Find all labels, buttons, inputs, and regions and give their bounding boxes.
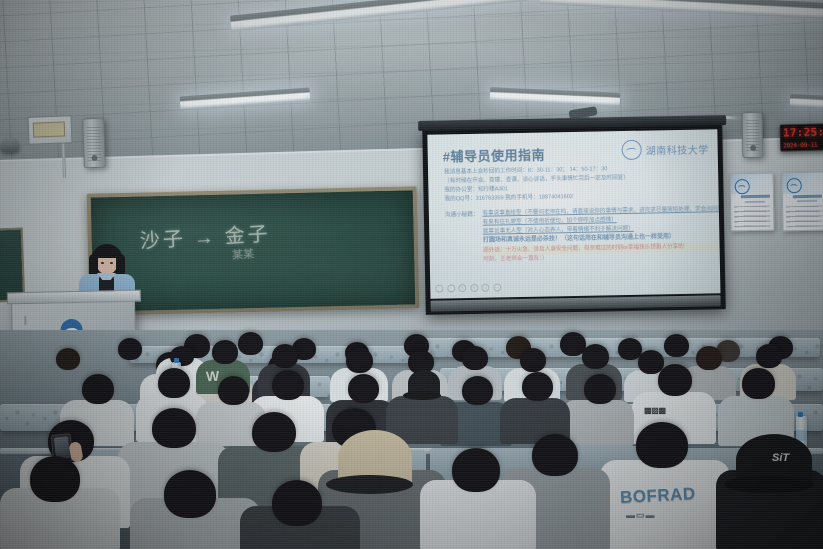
highlighter-icon[interactable] [447,284,455,292]
clock-date: 2024-09-11 [783,142,817,150]
audience-head [82,374,114,404]
audience-head [636,422,688,468]
bottle-cap [798,412,803,417]
audience-head [346,348,373,373]
bottle-cap [174,358,179,363]
audience-head [520,348,546,372]
audience-head [742,368,775,399]
ceiling-dome-speaker [0,138,18,153]
audience-head [152,408,196,448]
audience-head [272,344,298,368]
powerpoint-slide: #辅导员使用指南 湖南科技大学 我消息基本上会秒回的工作时间：8：30-11：3… [427,129,720,299]
audience-head [522,372,553,401]
audience-head [272,370,304,400]
certificate-body-lines [786,206,822,227]
lecture-hall-photo: 17:25:2 2024-09-11 沙子 → 金子 某某 #辅导员使用指南 [0,0,823,549]
audience-head [348,374,379,403]
close-icon[interactable]: ✕ [470,284,478,292]
lectern-top [7,290,141,305]
audience-head [664,334,689,357]
audience-head [238,332,263,355]
blackboard-signature: 某某 [232,245,255,263]
cap-brim [403,391,441,400]
led-wall-clock: 17:25:2 2024-09-11 [780,123,823,151]
audience-head [462,376,493,405]
wall-speaker-right [742,112,764,158]
audience-head [118,338,142,360]
certificate-title-bar [741,195,770,198]
cap-brim [724,476,814,494]
slide-tips-list: 有事说事直给型（不要问老师在吗，请直接说你的事情与需求，讲完求尽量简短处理，学会… [482,205,720,265]
slides-icon[interactable]: ▭ [481,284,489,292]
audience-head [218,376,249,405]
audience-head [56,348,80,370]
slide-tips-section: 沟通小秘籍： 有事说事直给型（不要问老师在吗，请直接说你的事情与需求，讲完求尽量… [445,205,710,266]
baseball-cap-beige [338,430,412,486]
audience-head [532,434,578,476]
shirt-text-bofrad: BOFRAD [620,484,697,508]
presenter-eye-left [101,262,104,264]
cap-text-sit: SiT [772,452,789,464]
framed-certificate-right [781,172,823,232]
certificate-subtitle-bar [797,200,816,202]
pen-icon[interactable] [435,285,443,293]
audience-area: W ▦▩ [0,330,823,549]
slide-title: #辅导员使用指南 [443,145,546,166]
audience-head [582,344,609,369]
shirt-subgraphic: ▬▭▬ [626,510,656,521]
audience-head [212,340,238,364]
audience-head [658,364,692,396]
audience-head [164,470,216,518]
audience-head [462,346,488,370]
slide-tips-label: 沟通小秘籍： [445,209,480,265]
speaker-driver [750,145,756,151]
wall-control-box[interactable] [28,115,73,145]
pointer-icon[interactable]: ✎ [458,284,466,292]
audience-head [30,456,80,502]
audience-head [252,412,296,452]
audience-head [272,480,322,526]
projection-screen-assembly: #辅导员使用指南 湖南科技大学 我消息基本上会秒回的工作时间：8：30-11：3… [422,123,726,315]
presenter-toolbar[interactable]: ✎ ✕ ▭ ⋯ [435,283,501,292]
certificate-title-bar [793,194,822,197]
clock-time: 17:25:2 [783,125,823,139]
certificate-body-lines [734,206,770,227]
shirt-text-w: W [206,368,221,385]
university-logo-text: 湖南科技大学 [646,141,709,157]
projection-screen: #辅导员使用指南 湖南科技大学 我消息基本上会秒回的工作时间：8：30-11：3… [427,129,720,299]
slide-body: 我消息基本上会秒回的工作时间：8：30-11：30； 14：50-17：30 （… [444,163,710,265]
lectern-scuff [24,316,26,325]
control-box-panel [33,121,66,137]
baseball-cap [408,370,440,396]
audience-head [158,368,190,398]
audience-head [452,448,500,492]
wall-speaker-left [82,118,106,169]
shirt-graphic: ▩▨▩ [644,406,666,415]
presenter-eye-right [110,262,113,264]
university-logo-icon [621,140,641,160]
certificate-subtitle-bar [745,201,764,203]
audience-head [584,374,616,404]
university-logo: 湖南科技大学 [621,138,708,160]
framed-certificate-left [729,173,774,232]
cap-brim [326,475,413,494]
more-icon[interactable]: ⋯ [493,283,501,291]
audience-head [696,346,722,370]
audience-head [756,344,782,368]
